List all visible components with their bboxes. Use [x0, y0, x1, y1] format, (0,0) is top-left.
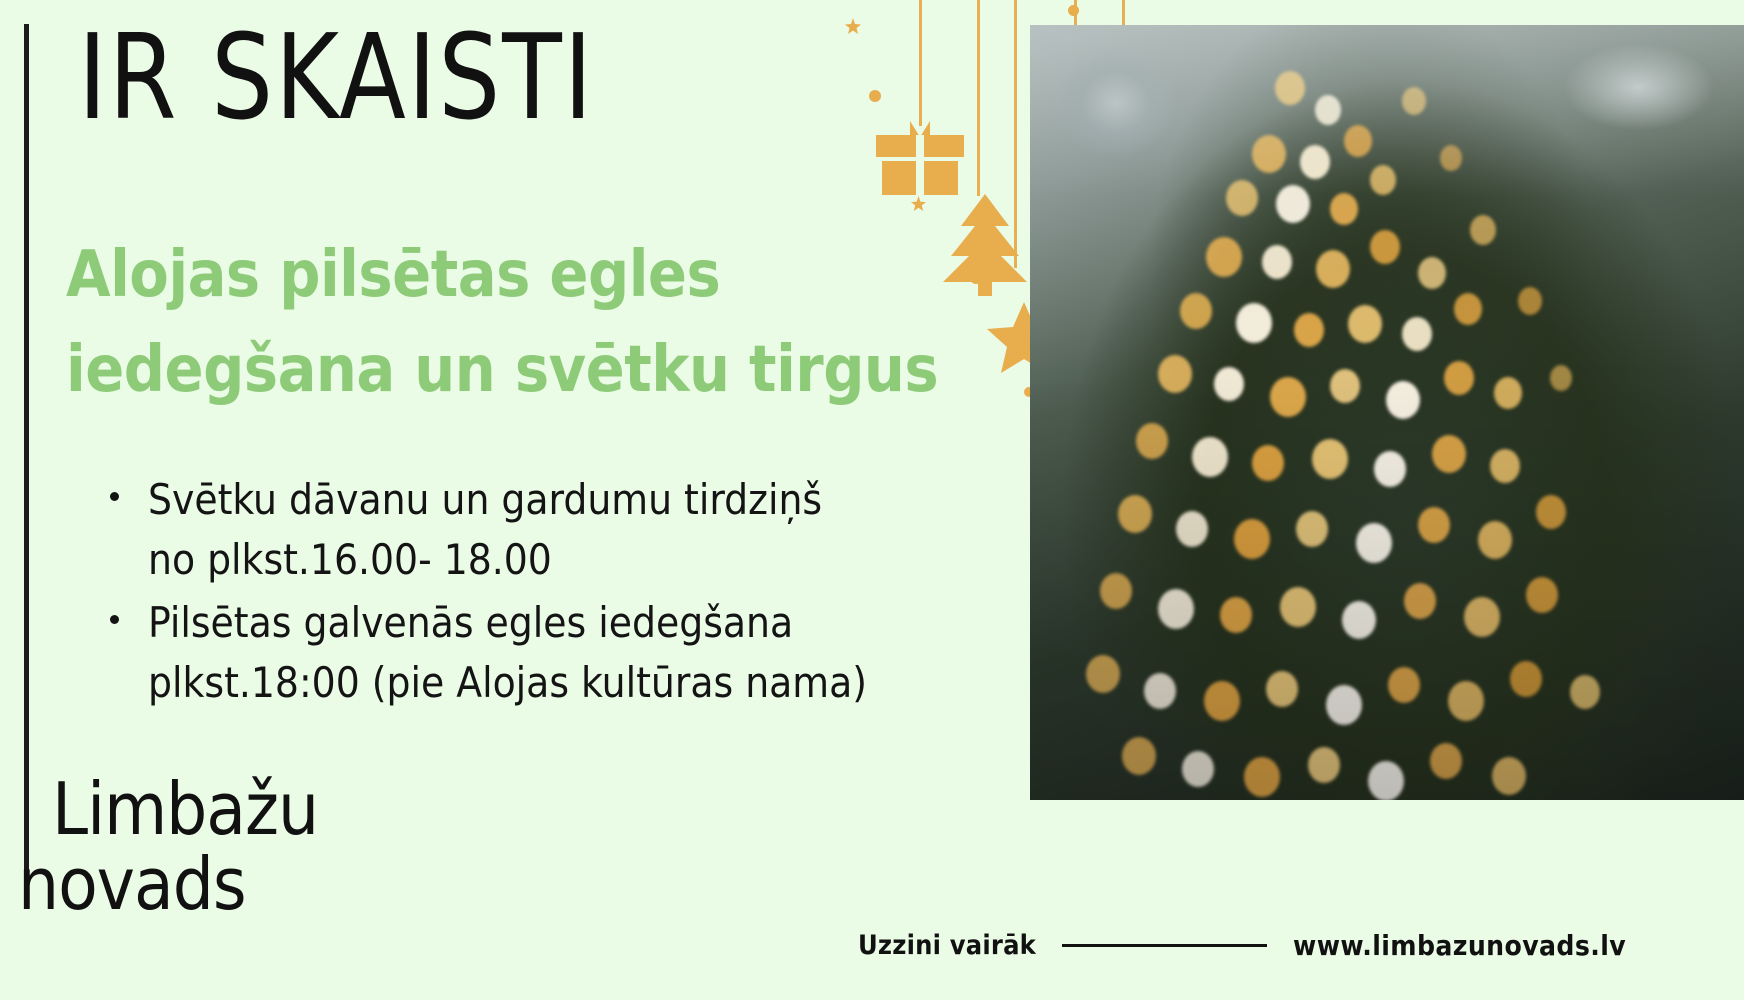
gift-box-icon	[874, 119, 966, 199]
footer-url[interactable]: www.limbazunovads.lv	[1293, 929, 1626, 962]
subtitle: Alojas pilsētas egles iedegšana un svētk…	[66, 228, 966, 417]
subtitle-line-1: Alojas pilsētas egles	[66, 228, 966, 323]
photo-haze	[1030, 25, 1744, 800]
logo-line-1: Limbažu	[18, 772, 318, 847]
list-item-line-1: Svētku dāvanu un gardumu tirdziņš	[148, 470, 930, 530]
list-item: Pilsētas galvenās egles iedegšana plkst.…	[100, 593, 930, 712]
left-vertical-rule	[24, 24, 29, 886]
star-icon	[845, 18, 861, 34]
dot-icon	[1068, 5, 1079, 16]
ornament-string	[919, 0, 922, 126]
bullet-dot-icon	[110, 492, 119, 501]
subtitle-line-2: iedegšana un svētku tirgus	[66, 323, 966, 418]
christmas-tree-photo	[1030, 25, 1744, 800]
dot-icon	[970, 272, 982, 284]
footer-divider	[1062, 944, 1267, 947]
list-item-line-2: no plkst.16.00- 18.00	[148, 530, 930, 590]
logo-line-2: novads	[18, 847, 318, 922]
footer: Uzzini vairāk www.limbazunovads.lv	[858, 923, 1718, 967]
list-item-line-2: plkst.18:00 (pie Alojas kultūras nama)	[148, 653, 930, 713]
footer-more-label: Uzzini vairāk	[858, 930, 1036, 961]
list-item-line-1: Pilsētas galvenās egles iedegšana	[148, 593, 930, 653]
christmas-tree-icon	[937, 190, 1033, 296]
list-item: Svētku dāvanu un gardumu tirdziņš no plk…	[100, 470, 930, 589]
poster-canvas: IR SKAISTI Alojas pilsētas egles iedegša…	[0, 0, 1744, 1000]
page-title: IR SKAISTI	[78, 18, 594, 136]
limbazu-novads-logo: Limbažu novads	[18, 772, 318, 922]
event-details-list: Svētku dāvanu un gardumu tirdziņš no plk…	[100, 470, 930, 717]
ornament-string	[977, 0, 980, 196]
star-icon	[911, 196, 926, 211]
dot-icon	[869, 90, 881, 102]
bullet-dot-icon	[110, 615, 119, 624]
